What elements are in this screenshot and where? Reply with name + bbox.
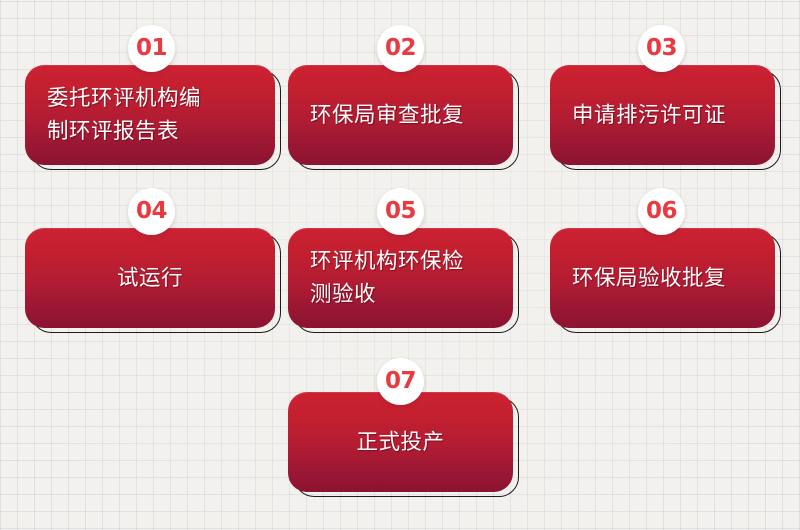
step-number-05: 05 <box>385 200 416 223</box>
step-card-05[interactable]: 环评机构环保检 测验收 <box>288 228 513 328</box>
step-badge-06: 06 <box>638 188 685 235</box>
step-label-04: 试运行 <box>25 262 275 295</box>
step-node-06[interactable]: 环保局验收批复 06 <box>550 228 775 328</box>
step-node-04[interactable]: 试运行 04 <box>25 228 275 328</box>
step-badge-07: 07 <box>377 358 424 405</box>
step-number-03: 03 <box>646 37 677 60</box>
step-number-02: 02 <box>385 37 416 60</box>
step-card-03[interactable]: 申请排污许可证 <box>550 65 775 165</box>
step-badge-04: 04 <box>128 188 175 235</box>
step-number-07: 07 <box>385 370 416 393</box>
step-node-05[interactable]: 环评机构环保检 测验收 05 <box>288 228 513 328</box>
flowchart-canvas: 委托环评机构编 制环评报告表 01 环保局审查批复 02 申请排污许可证 03 … <box>0 0 800 530</box>
step-badge-03: 03 <box>638 25 685 72</box>
step-node-01[interactable]: 委托环评机构编 制环评报告表 01 <box>25 65 275 165</box>
step-card-04[interactable]: 试运行 <box>25 228 275 328</box>
step-card-02[interactable]: 环保局审查批复 <box>288 65 513 165</box>
step-card-07[interactable]: 正式投产 <box>288 392 513 492</box>
step-label-01: 委托环评机构编 制环评报告表 <box>25 82 223 148</box>
step-badge-05: 05 <box>377 188 424 235</box>
step-badge-01: 01 <box>128 25 175 72</box>
step-label-06: 环保局验收批复 <box>550 262 748 295</box>
step-card-01[interactable]: 委托环评机构编 制环评报告表 <box>25 65 275 165</box>
step-card-06[interactable]: 环保局验收批复 <box>550 228 775 328</box>
step-number-04: 04 <box>136 200 167 223</box>
step-label-05: 环评机构环保检 测验收 <box>288 245 486 311</box>
step-number-01: 01 <box>136 37 167 60</box>
step-node-02[interactable]: 环保局审查批复 02 <box>288 65 513 165</box>
step-badge-02: 02 <box>377 25 424 72</box>
step-node-03[interactable]: 申请排污许可证 03 <box>550 65 775 165</box>
step-label-02: 环保局审查批复 <box>288 99 486 132</box>
step-label-03: 申请排污许可证 <box>550 99 748 132</box>
step-number-06: 06 <box>646 200 677 223</box>
step-label-07: 正式投产 <box>288 426 513 459</box>
step-node-07[interactable]: 正式投产 07 <box>288 392 513 492</box>
